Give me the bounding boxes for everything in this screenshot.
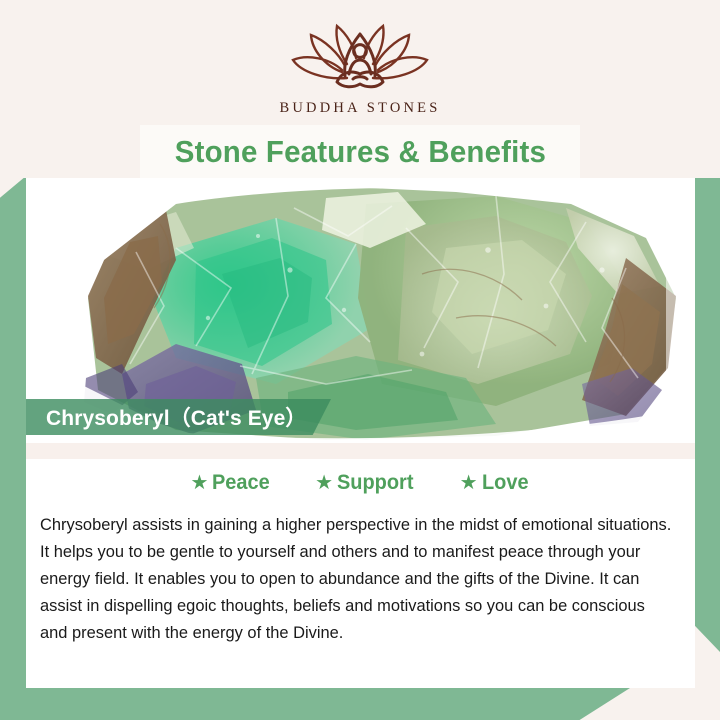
frame-band-left (0, 176, 26, 720)
brand-logo: BUDDHA STONES (0, 22, 720, 117)
stone-description: Chrysoberyl assists in gaining a higher … (40, 511, 671, 646)
star-icon: ★ (315, 473, 333, 493)
brand-name: BUDDHA STONES (280, 100, 441, 117)
divider-strip (26, 443, 695, 459)
benefit-label: Support (337, 471, 413, 495)
benefit-item-love: ★ Love (460, 471, 531, 495)
stone-name-label: Chrysoberyl（Cat's Eye） (26, 402, 306, 432)
stone-name-banner: Chrysoberyl（Cat's Eye） (26, 399, 331, 435)
benefit-label: Peace (212, 471, 270, 495)
benefit-label: Love (482, 471, 529, 495)
benefit-item-peace: ★ Peace (190, 471, 273, 495)
lotus-meditation-icon (285, 22, 435, 94)
content-panel: ★ Peace ★ Support ★ Love Chrysoberyl ass… (26, 459, 695, 688)
benefit-item-support: ★ Support (315, 471, 417, 495)
star-icon: ★ (460, 473, 478, 493)
frame-band-bottom (0, 688, 630, 720)
page-title: Stone Features & Benefits (174, 134, 545, 170)
header: BUDDHA STONES Stone Features & Benefits (0, 0, 720, 178)
page-title-band: Stone Features & Benefits (140, 125, 580, 178)
star-icon: ★ (190, 473, 208, 493)
stone-photo: Chrysoberyl（Cat's Eye） (26, 178, 695, 443)
benefits-list: ★ Peace ★ Support ★ Love (26, 459, 695, 495)
